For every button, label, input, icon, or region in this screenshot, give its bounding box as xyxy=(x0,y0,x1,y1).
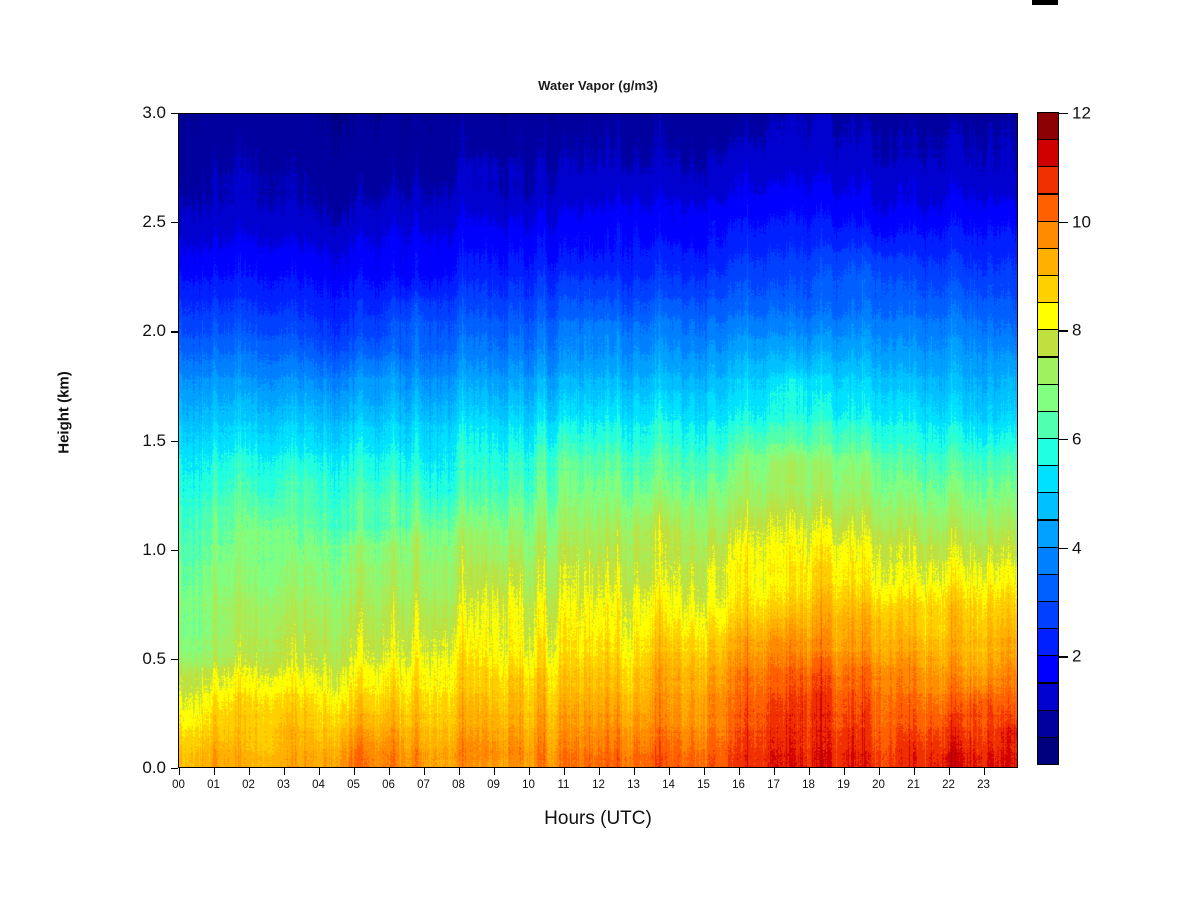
y-tick-mark xyxy=(171,113,178,114)
y-tick-label: 0.0 xyxy=(110,759,166,776)
colorbar-band xyxy=(1037,655,1059,683)
x-tick-mark xyxy=(249,768,250,775)
colorbar-band xyxy=(1037,139,1059,167)
x-tick-label: 06 xyxy=(374,779,404,791)
x-tick-label: 12 xyxy=(584,779,614,791)
x-tick-mark xyxy=(949,768,950,775)
x-tick-label: 15 xyxy=(689,779,719,791)
x-tick-label: 19 xyxy=(829,779,859,791)
y-tick-label: 1.5 xyxy=(110,432,166,449)
x-tick-mark xyxy=(424,768,425,775)
y-tick-mark xyxy=(171,550,178,551)
x-tick-mark xyxy=(599,768,600,775)
colorbar-band xyxy=(1037,411,1059,439)
colorbar-band xyxy=(1037,492,1059,520)
artifact-bar xyxy=(1032,0,1058,5)
colorbar-band xyxy=(1037,710,1059,738)
x-tick-mark xyxy=(809,768,810,775)
y-tick-label: 2.5 xyxy=(110,213,166,230)
colorbar-band xyxy=(1037,302,1059,330)
x-tick-mark xyxy=(879,768,880,775)
colorbar-band xyxy=(1037,194,1059,222)
colorbar-band xyxy=(1037,547,1059,575)
x-tick-label: 05 xyxy=(339,779,369,791)
colorbar-tick-mark xyxy=(1059,548,1068,549)
x-tick-mark xyxy=(774,768,775,775)
x-tick-label: 03 xyxy=(269,779,299,791)
colorbar-tick-mark xyxy=(1059,222,1068,223)
colorbar-band xyxy=(1037,275,1059,303)
x-tick-mark xyxy=(634,768,635,775)
colorbar-tick-mark xyxy=(1059,330,1068,331)
y-tick-mark xyxy=(171,441,178,442)
colorbar-band xyxy=(1037,601,1059,629)
colorbar-tick-label: 6 xyxy=(1072,431,1081,448)
x-tick-label: 00 xyxy=(164,779,194,791)
plot-area xyxy=(178,113,1018,768)
x-tick-mark xyxy=(704,768,705,775)
x-tick-mark xyxy=(564,768,565,775)
x-tick-label: 20 xyxy=(864,779,894,791)
y-tick-mark xyxy=(171,222,178,223)
colorbar-tick-mark xyxy=(1059,656,1068,657)
x-tick-mark xyxy=(529,768,530,775)
colorbar-tick-mark xyxy=(1059,113,1068,114)
x-tick-label: 21 xyxy=(899,779,929,791)
colorbar-tick-label: 2 xyxy=(1072,648,1081,665)
colorbar-band xyxy=(1037,112,1059,140)
x-tick-label: 11 xyxy=(549,779,579,791)
x-tick-label: 23 xyxy=(969,779,999,791)
chart-title: Water Vapor (g/m3) xyxy=(178,78,1018,93)
chart-root: Water Vapor (g/m3) 0.00.51.01.52.02.53.0… xyxy=(0,0,1200,900)
x-tick-label: 08 xyxy=(444,779,474,791)
x-tick-mark xyxy=(214,768,215,775)
colorbar-tick-label: 8 xyxy=(1072,322,1081,339)
x-tick-mark xyxy=(494,768,495,775)
x-tick-label: 04 xyxy=(304,779,334,791)
colorbar-tick-label: 4 xyxy=(1072,539,1081,556)
x-tick-label: 13 xyxy=(619,779,649,791)
x-tick-mark xyxy=(984,768,985,775)
colorbar-band xyxy=(1037,221,1059,249)
x-tick-mark xyxy=(459,768,460,775)
colorbar-band xyxy=(1037,248,1059,276)
x-tick-label: 07 xyxy=(409,779,439,791)
y-tick-label: 2.0 xyxy=(110,322,166,339)
x-tick-label: 02 xyxy=(234,779,264,791)
x-tick-mark xyxy=(319,768,320,775)
y-tick-label: 1.0 xyxy=(110,541,166,558)
colorbar-tick-label: 12 xyxy=(1072,105,1091,122)
x-tick-label: 09 xyxy=(479,779,509,791)
x-tick-label: 10 xyxy=(514,779,544,791)
x-tick-label: 17 xyxy=(759,779,789,791)
colorbar-band xyxy=(1037,737,1059,765)
x-tick-mark xyxy=(844,768,845,775)
colorbar xyxy=(1037,113,1059,765)
x-tick-label: 16 xyxy=(724,779,754,791)
x-tick-mark xyxy=(179,768,180,775)
y-tick-mark xyxy=(171,768,178,769)
colorbar-band xyxy=(1037,683,1059,711)
colorbar-band xyxy=(1037,574,1059,602)
x-tick-label: 18 xyxy=(794,779,824,791)
x-tick-mark xyxy=(739,768,740,775)
x-tick-mark xyxy=(669,768,670,775)
colorbar-band xyxy=(1037,628,1059,656)
x-tick-mark xyxy=(389,768,390,775)
y-axis-title: Height (km) xyxy=(56,323,73,503)
colorbar-band xyxy=(1037,520,1059,548)
colorbar-band xyxy=(1037,465,1059,493)
colorbar-tick-label: 10 xyxy=(1072,213,1091,230)
y-tick-label: 3.0 xyxy=(110,104,166,121)
colorbar-band xyxy=(1037,166,1059,194)
colorbar-band xyxy=(1037,384,1059,412)
x-axis-title: Hours (UTC) xyxy=(178,808,1018,830)
x-tick-mark xyxy=(914,768,915,775)
x-tick-label: 22 xyxy=(934,779,964,791)
x-tick-mark xyxy=(284,768,285,775)
y-axis-tick-labels: 0.00.51.01.52.02.53.0 xyxy=(106,0,166,900)
colorbar-band xyxy=(1037,438,1059,466)
y-tick-mark xyxy=(171,331,178,332)
y-tick-label: 0.5 xyxy=(110,650,166,667)
heatmap-canvas xyxy=(179,114,1018,768)
x-tick-label: 14 xyxy=(654,779,684,791)
colorbar-band xyxy=(1037,329,1059,357)
x-tick-label: 01 xyxy=(199,779,229,791)
y-tick-mark xyxy=(171,659,178,660)
colorbar-band xyxy=(1037,357,1059,385)
x-tick-mark xyxy=(354,768,355,775)
colorbar-tick-mark xyxy=(1059,439,1068,440)
